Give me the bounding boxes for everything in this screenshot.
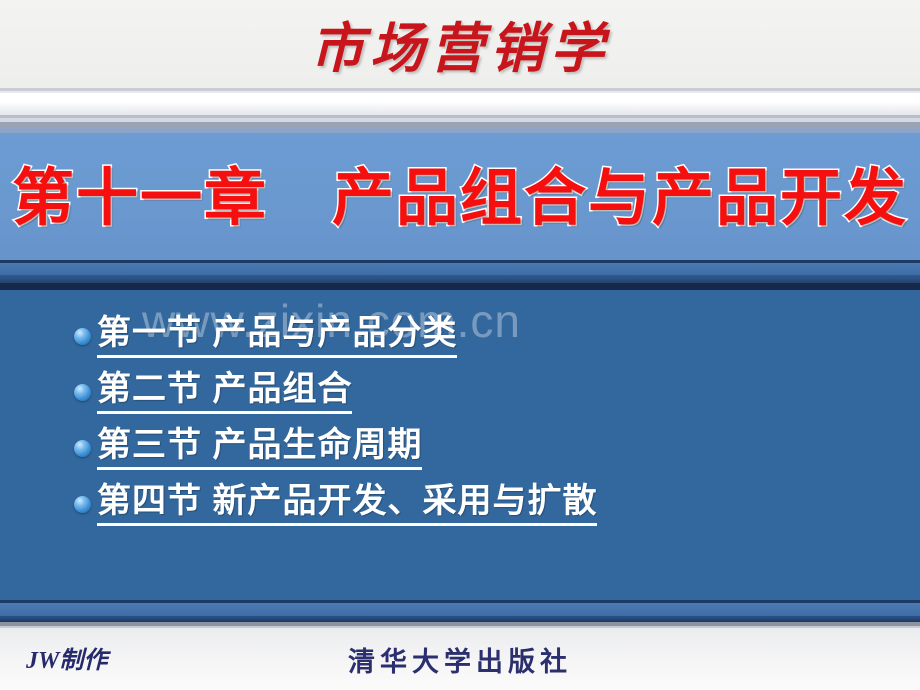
chapter-title: 第十一章 产品组合与产品开发 xyxy=(0,147,920,237)
slide-footer: JW制作 清华大学出版社 xyxy=(0,628,920,690)
table-of-contents: 第一节 产品与产品分类 第二节 产品组合 第三节 产品生命周期 第四节 新产品开… xyxy=(0,308,920,532)
bevel-gloss-strip xyxy=(0,93,920,115)
blue-sphere-bullet-icon xyxy=(74,328,91,345)
toc-link-label[interactable]: 第一节 产品与产品分类 xyxy=(97,314,457,357)
publisher-name: 清华大学出版社 xyxy=(0,640,920,679)
toc-item-section-3[interactable]: 第三节 产品生命周期 xyxy=(0,420,920,476)
toc-link-label[interactable]: 第三节 产品生命周期 xyxy=(97,426,422,469)
presentation-slide: 市场营销学 第十一章 产品组合与产品开发 www.zixin.com.cn 第一… xyxy=(0,0,920,690)
blue-sphere-bullet-icon xyxy=(74,384,91,401)
bottom-separator-line-2 xyxy=(0,603,920,616)
slide-body: www.zixin.com.cn 第一节 产品与产品分类 第二节 产品组合 第三… xyxy=(0,290,920,600)
chapter-title-band: 第十一章 产品组合与产品开发 xyxy=(0,133,920,260)
separator-line-2 xyxy=(0,263,920,275)
separator-line-4 xyxy=(0,283,920,290)
toc-item-section-1[interactable]: 第一节 产品与产品分类 xyxy=(0,308,920,364)
toc-item-section-2[interactable]: 第二节 产品组合 xyxy=(0,364,920,420)
separator-line-3 xyxy=(0,275,920,283)
bottom-separator-band xyxy=(0,600,920,628)
toc-link-label[interactable]: 第二节 产品组合 xyxy=(97,370,352,413)
top-separator-band xyxy=(0,260,920,290)
blue-sphere-bullet-icon xyxy=(74,440,91,457)
blue-sphere-bullet-icon xyxy=(74,496,91,513)
toc-link-label[interactable]: 第四节 新产品开发、采用与扩散 xyxy=(97,482,597,525)
header-bevel-divider xyxy=(0,88,920,133)
slide-header: 市场营销学 xyxy=(0,0,920,88)
course-title: 市场营销学 xyxy=(0,4,920,83)
toc-item-section-4[interactable]: 第四节 新产品开发、采用与扩散 xyxy=(0,476,920,532)
